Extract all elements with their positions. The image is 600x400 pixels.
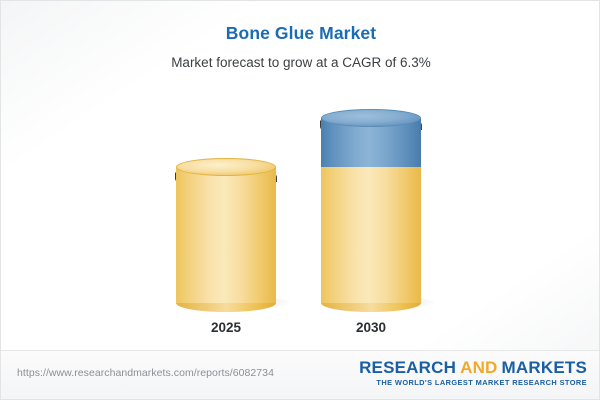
bar-segment-base-2030[interactable] bbox=[321, 167, 421, 303]
chart-subtitle: Market forecast to grow at a CAGR of 6.3… bbox=[1, 44, 600, 70]
logo-tagline: THE WORLD'S LARGEST MARKET RESEARCH STOR… bbox=[359, 378, 587, 388]
chart-header: Bone Glue Market Market forecast to grow… bbox=[1, 1, 600, 70]
research-and-markets-logo[interactable]: RESEARCHANDMARKETS THE WORLD'S LARGEST M… bbox=[359, 358, 587, 388]
bar-segment-base-2025[interactable] bbox=[176, 167, 276, 303]
category-label-2025: 2025 bbox=[156, 320, 296, 335]
chart-card: Bone Glue Market Market forecast to grow… bbox=[0, 0, 600, 400]
chart-title: Bone Glue Market bbox=[1, 1, 600, 44]
cylinder-top-cap bbox=[321, 109, 421, 127]
logo-word-markets: MARKETS bbox=[502, 358, 587, 377]
cylinder-2030[interactable] bbox=[321, 118, 421, 303]
chart-footer: https://www.researchandmarkets.com/repor… bbox=[1, 350, 600, 399]
logo-wordmark: RESEARCHANDMARKETS bbox=[359, 358, 587, 377]
cylinder-2025[interactable] bbox=[176, 167, 276, 303]
logo-word-research: RESEARCH bbox=[359, 358, 456, 377]
cylinder-body bbox=[176, 167, 276, 303]
chart-plot-area: USD 1.71 Billion 2025 USD 2.33 Billion bbox=[1, 79, 600, 341]
bar-segment-growth-2030[interactable] bbox=[321, 118, 421, 167]
category-label-2030: 2030 bbox=[301, 320, 441, 335]
logo-word-and: AND bbox=[460, 358, 497, 377]
source-url-link[interactable]: https://www.researchandmarkets.com/repor… bbox=[17, 367, 274, 379]
cylinder-top-cap bbox=[176, 158, 276, 176]
cylinder-body bbox=[321, 167, 421, 303]
